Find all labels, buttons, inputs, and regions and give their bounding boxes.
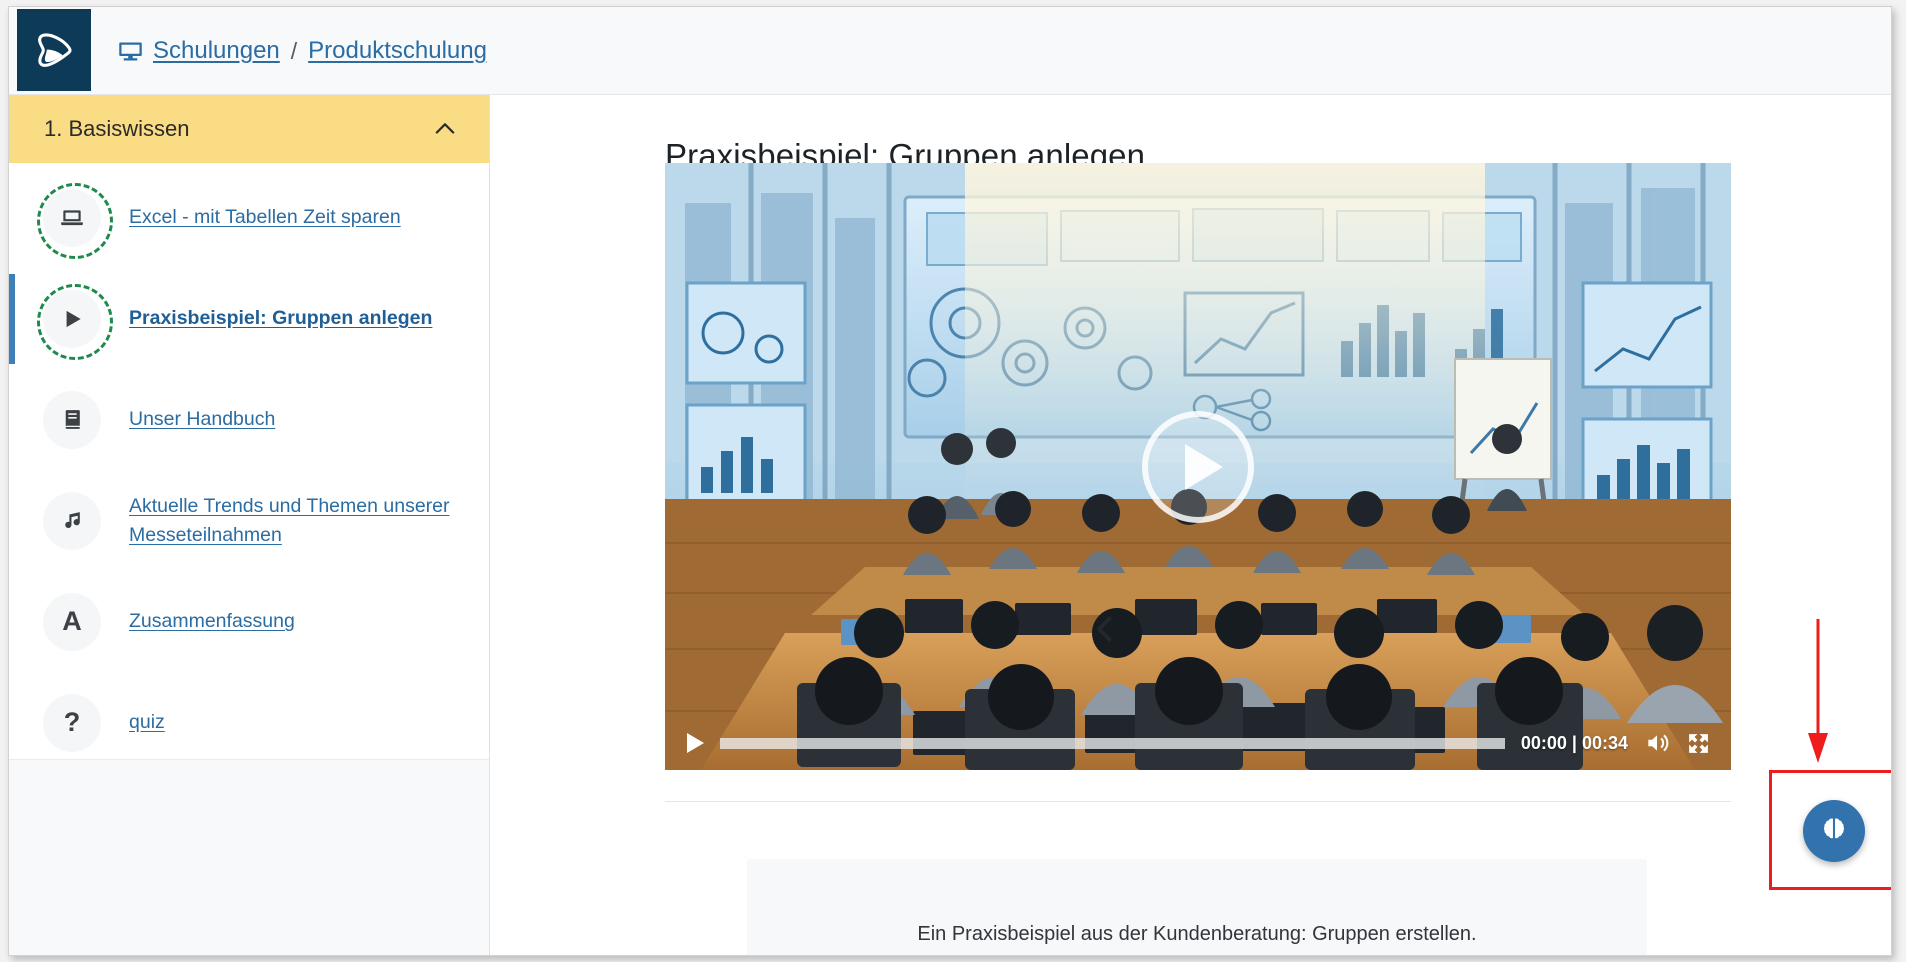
- browser-window: Schulungen / Produktschulung 1. Basiswis…: [8, 6, 1892, 956]
- breadcrumb: Schulungen / Produktschulung: [117, 7, 487, 95]
- chevron-up-icon[interactable]: [431, 115, 459, 143]
- accordion-section-basiswissen[interactable]: 1. Basiswissen: [9, 95, 489, 163]
- video-time-display: 00:00 | 00:34: [1521, 733, 1628, 754]
- video-controls-bar: 00:00 | 00:34: [665, 716, 1731, 770]
- accordion-title: 1. Basiswissen: [44, 116, 431, 142]
- top-bar: Schulungen / Produktschulung: [9, 7, 1891, 95]
- video-player[interactable]: 00:00 | 00:34: [665, 163, 1731, 770]
- book-icon: [43, 391, 101, 449]
- sidebar-item-label[interactable]: quiz: [129, 708, 165, 737]
- play-button[interactable]: [687, 733, 704, 753]
- lesson-list: Excel - mit Tabellen Zeit sparen Praxisb…: [9, 163, 489, 773]
- sidebar-item-label[interactable]: Unser Handbuch: [129, 405, 275, 434]
- sidebar-item-zusammenfassung[interactable]: A Zusammenfassung: [9, 571, 489, 672]
- sidebar-item-label[interactable]: Excel - mit Tabellen Zeit sparen: [129, 203, 401, 232]
- volume-icon[interactable]: [1644, 730, 1670, 756]
- monitor-icon: [117, 38, 144, 65]
- content-divider: [665, 801, 1731, 802]
- breadcrumb-separator: /: [289, 38, 299, 65]
- carousel-prev-button[interactable]: [1077, 603, 1133, 659]
- active-indicator: [9, 274, 15, 364]
- question-mark-icon: ?: [43, 694, 101, 752]
- play-logo-icon: [31, 27, 77, 73]
- letter-a-icon: A: [43, 593, 101, 651]
- sidebar-item-label[interactable]: Praxisbeispiel: Gruppen anlegen: [129, 304, 432, 333]
- sidebar-item-label[interactable]: Zusammenfassung: [129, 607, 295, 636]
- sidebar-item-trends[interactable]: Aktuelle Trends und Themen unserer Messe…: [9, 470, 489, 571]
- course-sidebar: 1. Basiswissen Excel - mit Tabellen Zeit…: [9, 95, 490, 956]
- sidebar-item-handbuch[interactable]: Unser Handbuch: [9, 369, 489, 470]
- description-card: Ein Praxisbeispiel aus der Kundenberatun…: [747, 859, 1647, 956]
- music-note-icon: [43, 492, 101, 550]
- play-icon: [687, 733, 704, 753]
- breadcrumb-item-schulungen[interactable]: Schulungen: [153, 37, 280, 65]
- annotation-arrow: [1805, 617, 1831, 765]
- sidebar-footer: [9, 759, 489, 956]
- video-play-overlay-button[interactable]: [1142, 411, 1254, 523]
- laptop-icon: [43, 189, 101, 247]
- brain-icon: [1820, 815, 1848, 848]
- sidebar-item-excel[interactable]: Excel - mit Tabellen Zeit sparen: [9, 167, 489, 268]
- play-icon: [1185, 444, 1223, 490]
- assistant-fab-button[interactable]: [1803, 800, 1865, 862]
- breadcrumb-item-produktschulung[interactable]: Produktschulung: [308, 37, 487, 65]
- description-text: Ein Praxisbeispiel aus der Kundenberatun…: [917, 923, 1476, 946]
- sidebar-item-quiz[interactable]: ? quiz: [9, 672, 489, 773]
- video-progress-bar[interactable]: [720, 738, 1505, 749]
- sidebar-item-label[interactable]: Aktuelle Trends und Themen unserer Messe…: [129, 492, 459, 550]
- play-icon: [43, 290, 101, 348]
- main-content: Praxisbeispiel: Gruppen anlegen: [491, 95, 1892, 956]
- fullscreen-icon[interactable]: [1686, 731, 1711, 756]
- app-logo[interactable]: [17, 9, 91, 91]
- sidebar-item-praxisbeispiel[interactable]: Praxisbeispiel: Gruppen anlegen: [9, 268, 489, 369]
- chevron-left-icon: [1087, 611, 1123, 652]
